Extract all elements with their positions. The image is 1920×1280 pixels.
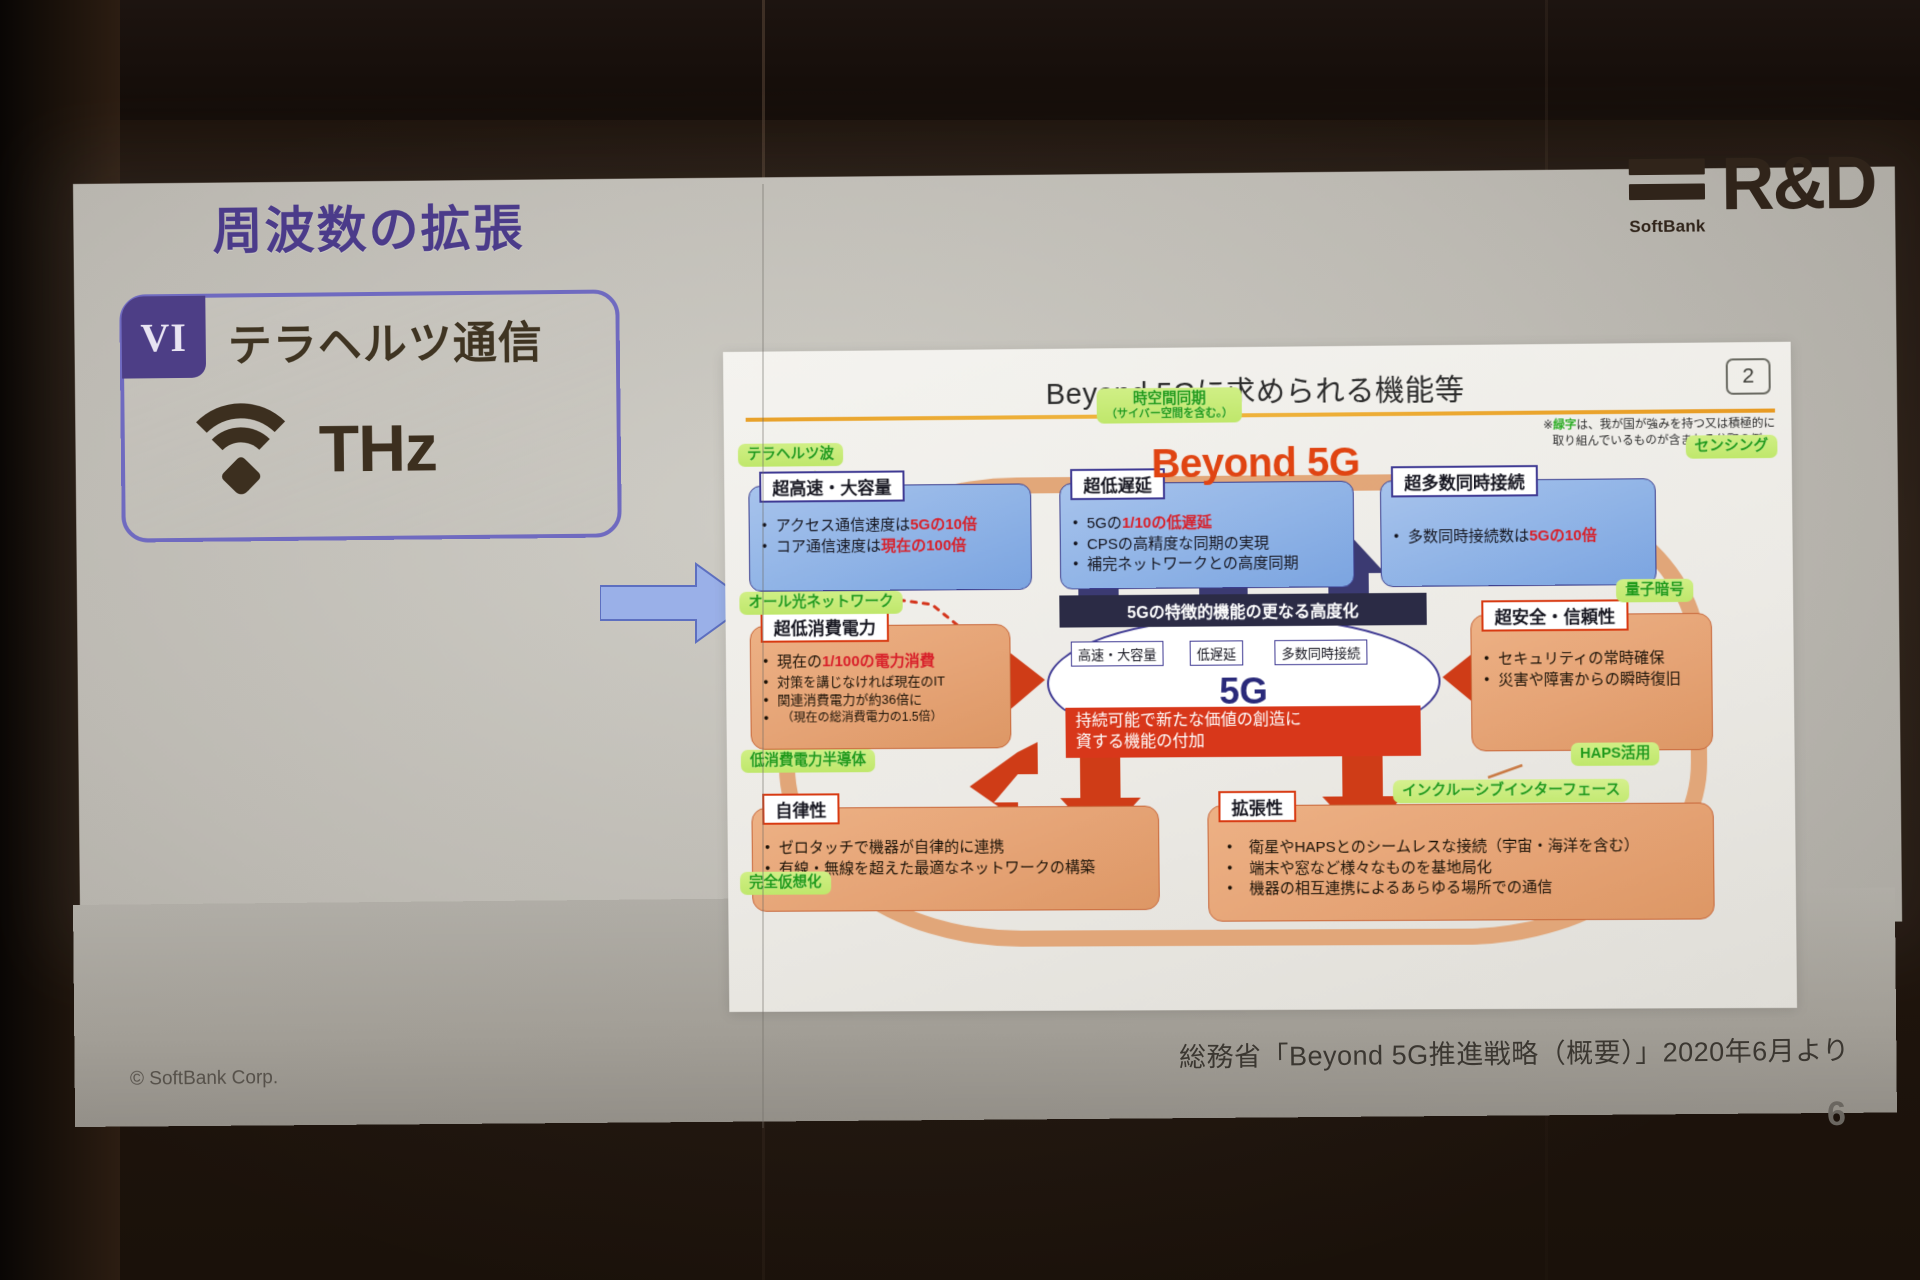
beyond5g-diagram: Beyond 5Gに求められる機能等 2 ※緑字は、我が国が強みを持つ又は積極的… bbox=[723, 342, 1797, 1012]
chip-low-power-semiconductor: 低消費電力半導体 bbox=[741, 749, 875, 772]
box-head-autonomy: 自律性 bbox=[762, 793, 839, 824]
terahertz-card: VI テラヘルツ通信 THz bbox=[119, 289, 622, 542]
bullet: CPSの高精度な同期の実現 bbox=[1073, 533, 1345, 556]
box-autonomy: 自律性 ゼロタッチで機器が自律的に連携 有線・無線を超えた最適なネットワークの構… bbox=[751, 806, 1160, 912]
beyond5g-headline: Beyond 5G bbox=[724, 437, 1792, 491]
equals-bars-icon: SoftBank bbox=[1629, 152, 1706, 237]
brand-label: SoftBank bbox=[1630, 216, 1706, 237]
center-header-bar: 5Gの特徴的機能の更なる高度化 bbox=[1059, 593, 1427, 628]
box-ultra-low-power: 超低消費電力 現在の1/100の電力消費 対策を講じなければ現在のIT 関連消費… bbox=[750, 624, 1012, 750]
box-head-ultra-low-power: 超低消費電力 bbox=[761, 611, 889, 643]
chip-spacetime-sync: 時空間同期 （サイバー空間を含む。） bbox=[1097, 387, 1243, 424]
minibox-low-latency: 低遅延 bbox=[1190, 640, 1244, 665]
section-number-badge: VI bbox=[121, 296, 206, 379]
minibox-high-speed: 高速・大容量 bbox=[1071, 641, 1164, 667]
red-bar-line1: 持続可能で新たな価値の創造に bbox=[1075, 710, 1410, 733]
minibox-massive-connect: 多数同時接続 bbox=[1274, 639, 1367, 665]
box-ultra-low-latency: 超低遅延 5Gの1/10の低遅延 CPSの高精度な同期の実現 補完ネットワークと… bbox=[1059, 481, 1354, 590]
bullet: 機器の相互連携によるあらゆる場所での通信 bbox=[1227, 877, 1705, 900]
bullet: 衛星やHAPSとのシームレスな接続（宇宙・海洋を含む） bbox=[1227, 836, 1705, 859]
box-head-extensibility: 拡張性 bbox=[1218, 791, 1296, 823]
section-subtitle: テラヘルツ通信 bbox=[227, 306, 543, 373]
bullet: 多数同時接続数は5Gの10倍 bbox=[1393, 526, 1647, 549]
box-head-ultra-secure-reliable: 超安全・信頼性 bbox=[1481, 599, 1628, 631]
bullet: 5Gの1/10の低遅延 bbox=[1073, 512, 1345, 535]
bullet: アクセス通信速度は5Gの10倍 bbox=[762, 515, 1023, 538]
chip-spacetime-sub: （サイバー空間を含む。） bbox=[1106, 407, 1233, 421]
center-red-bar: 持続可能で新たな価値の創造に 資する機能の付加 bbox=[1065, 705, 1421, 757]
box-massive-connectivity: 超多数同時接続 多数同時接続数は5Gの10倍 bbox=[1380, 478, 1657, 587]
box-ultra-secure-reliable: 超安全・信頼性 セキュリティの常時確保 災害や障害からの瞬時復旧 bbox=[1470, 613, 1713, 752]
softbank-rd-logo: SoftBank R&D bbox=[1629, 151, 1876, 237]
source-citation: 総務省「Beyond 5G推進戦略（概要）」2020年6月より bbox=[1179, 1028, 1850, 1074]
bullet: コア通信速度は現在の100倍 bbox=[762, 535, 1023, 558]
wall-top-panel bbox=[0, 0, 1920, 128]
box-ultra-high-speed: 超高速・大容量 アクセス通信速度は5Gの10倍 コア通信速度は現在の100倍 bbox=[748, 483, 1032, 591]
chip-full-virtualization: 完全仮想化 bbox=[740, 871, 831, 894]
wifi-waves-icon bbox=[176, 401, 305, 498]
bullet: セキュリティの常時確保 bbox=[1484, 648, 1703, 670]
bullet: 対策を講じなければ現在のIT bbox=[763, 672, 1002, 692]
thz-row: THz bbox=[176, 399, 437, 498]
conference-room-photo: SoftBank R&D 周波数の拡張 VI テラヘルツ通信 THz © Sof… bbox=[0, 0, 1920, 1280]
copyright-notice: © SoftBank Corp. bbox=[130, 1067, 278, 1091]
chip-quantum-crypto: 量子暗号 bbox=[1616, 579, 1693, 602]
chip-inclusive-interface: インクルーシブインターフェース bbox=[1393, 779, 1630, 803]
chip-all-optical-network: オール光ネットワーク bbox=[739, 591, 902, 615]
bullet-continuation: 関連消費電力が約36倍に bbox=[763, 690, 1002, 710]
bullet: ゼロタッチで機器が自律的に連携 bbox=[765, 837, 1151, 860]
page-title: 周波数の拡張 bbox=[118, 187, 619, 264]
bullet: 補完ネットワークとの高度同期 bbox=[1073, 554, 1345, 577]
bullet: 現在の1/100の電力消費 bbox=[763, 651, 1002, 673]
red-bar-line2: 資する機能の付加 bbox=[1076, 730, 1411, 753]
bullet-continuation: （現在の総消費電力の1.5倍） bbox=[763, 708, 1002, 726]
thz-unit-label: THz bbox=[318, 409, 437, 486]
left-panel: 周波数の拡張 VI テラヘルツ通信 THz bbox=[118, 187, 622, 542]
rd-label: R&D bbox=[1721, 151, 1876, 216]
slide-page-number: 6 bbox=[1827, 1095, 1846, 1134]
chip-haps: HAPS活用 bbox=[1571, 742, 1660, 765]
bullet: 災害や障害からの瞬時復旧 bbox=[1484, 669, 1703, 691]
bullet: 端末や窓など様々なものを基地局化 bbox=[1227, 857, 1705, 880]
box-extensibility: 拡張性 衛星やHAPSとのシームレスな接続（宇宙・海洋を含む） 端末や窓など様々… bbox=[1207, 802, 1714, 921]
